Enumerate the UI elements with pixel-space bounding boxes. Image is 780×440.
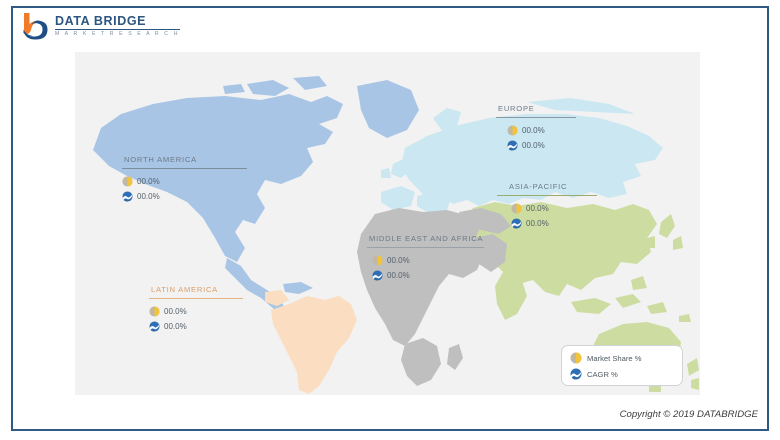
pie-chart-icon: [122, 176, 133, 187]
brand-logo[interactable]: DATA BRIDGE M A R K E T R E S E A R C H: [22, 11, 180, 41]
pie-chart-icon: [372, 255, 383, 266]
globe-cagr-icon: [507, 140, 518, 151]
slide-canvas: DATA BRIDGE M A R K E T R E S E A R C H: [0, 0, 780, 440]
market-share-value: 00.0%: [522, 126, 545, 135]
world-map-graphic: [75, 52, 700, 395]
callout-market-share-row: 00.0%: [367, 255, 484, 266]
pie-chart-icon: [507, 125, 518, 136]
callout-cagr-row: 00.0%: [149, 321, 243, 332]
cagr-value: 00.0%: [137, 192, 160, 201]
brand-logo-text: DATA BRIDGE M A R K E T R E S E A R C H: [55, 15, 180, 37]
legend-item-market-share[interactable]: Market Share %: [570, 352, 682, 364]
globe-cagr-icon: [570, 368, 582, 380]
callout-rule: [122, 168, 247, 169]
callout-rule: [367, 247, 484, 248]
legend-label-cagr: CAGR %: [587, 370, 618, 379]
pie-chart-icon: [570, 352, 582, 364]
brand-tagline: M A R K E T R E S E A R C H: [55, 32, 180, 37]
data-bridge-b-logo-icon: [22, 12, 49, 40]
callout-cagr-row: 00.0%: [122, 191, 247, 202]
callout-market-share-row: 00.0%: [496, 125, 576, 136]
map-legend: Market Share % CAGR %: [561, 345, 683, 386]
market-share-value: 00.0%: [164, 307, 187, 316]
callout-title-north-america: NORTH AMERICA: [122, 155, 247, 164]
callout-cagr-row: 00.0%: [497, 218, 597, 229]
pie-chart-icon: [511, 203, 522, 214]
world-map-panel: NORTH AMERICA 00.0% 00.0%: [75, 52, 700, 395]
legend-item-cagr[interactable]: CAGR %: [570, 368, 682, 380]
cagr-value: 00.0%: [387, 271, 410, 280]
legend-label-market-share: Market Share %: [587, 354, 641, 363]
callout-cagr-row: 00.0%: [367, 270, 484, 281]
callout-europe[interactable]: EUROPE 00.0% 00.0%: [496, 104, 576, 155]
callout-title-latin-america: LATIN AMERICA: [149, 285, 243, 294]
callout-market-share-row: 00.0%: [149, 306, 243, 317]
market-share-value: 00.0%: [137, 177, 160, 186]
callout-middle-east-and-africa[interactable]: MIDDLE EAST AND AFRICA 00.0% 00.0%: [367, 234, 484, 285]
cagr-value: 00.0%: [526, 219, 549, 228]
market-share-value: 00.0%: [526, 204, 549, 213]
cagr-value: 00.0%: [164, 322, 187, 331]
callout-title-asia-pacific: ASIA-PACIFIC: [497, 182, 597, 191]
callout-cagr-row: 00.0%: [496, 140, 576, 151]
callout-north-america[interactable]: NORTH AMERICA 00.0% 00.0%: [122, 155, 247, 206]
callout-rule: [149, 298, 243, 299]
callout-market-share-row: 00.0%: [122, 176, 247, 187]
market-share-value: 00.0%: [387, 256, 410, 265]
callout-market-share-row: 00.0%: [497, 203, 597, 214]
callout-title-europe: EUROPE: [496, 104, 576, 113]
globe-cagr-icon: [122, 191, 133, 202]
globe-cagr-icon: [511, 218, 522, 229]
brand-name: DATA BRIDGE: [55, 15, 180, 30]
callout-rule: [497, 195, 597, 196]
copyright-text: Copyright © 2019 DATABRIDGE: [620, 409, 758, 420]
callout-rule: [496, 117, 576, 118]
callout-latin-america[interactable]: LATIN AMERICA 00.0% 00.0%: [149, 285, 243, 336]
callout-title-middle-east-and-africa: MIDDLE EAST AND AFRICA: [367, 234, 484, 243]
pie-chart-icon: [149, 306, 160, 317]
cagr-value: 00.0%: [522, 141, 545, 150]
globe-cagr-icon: [372, 270, 383, 281]
callout-asia-pacific[interactable]: ASIA-PACIFIC 00.0% 00.0%: [497, 182, 597, 233]
globe-cagr-icon: [149, 321, 160, 332]
